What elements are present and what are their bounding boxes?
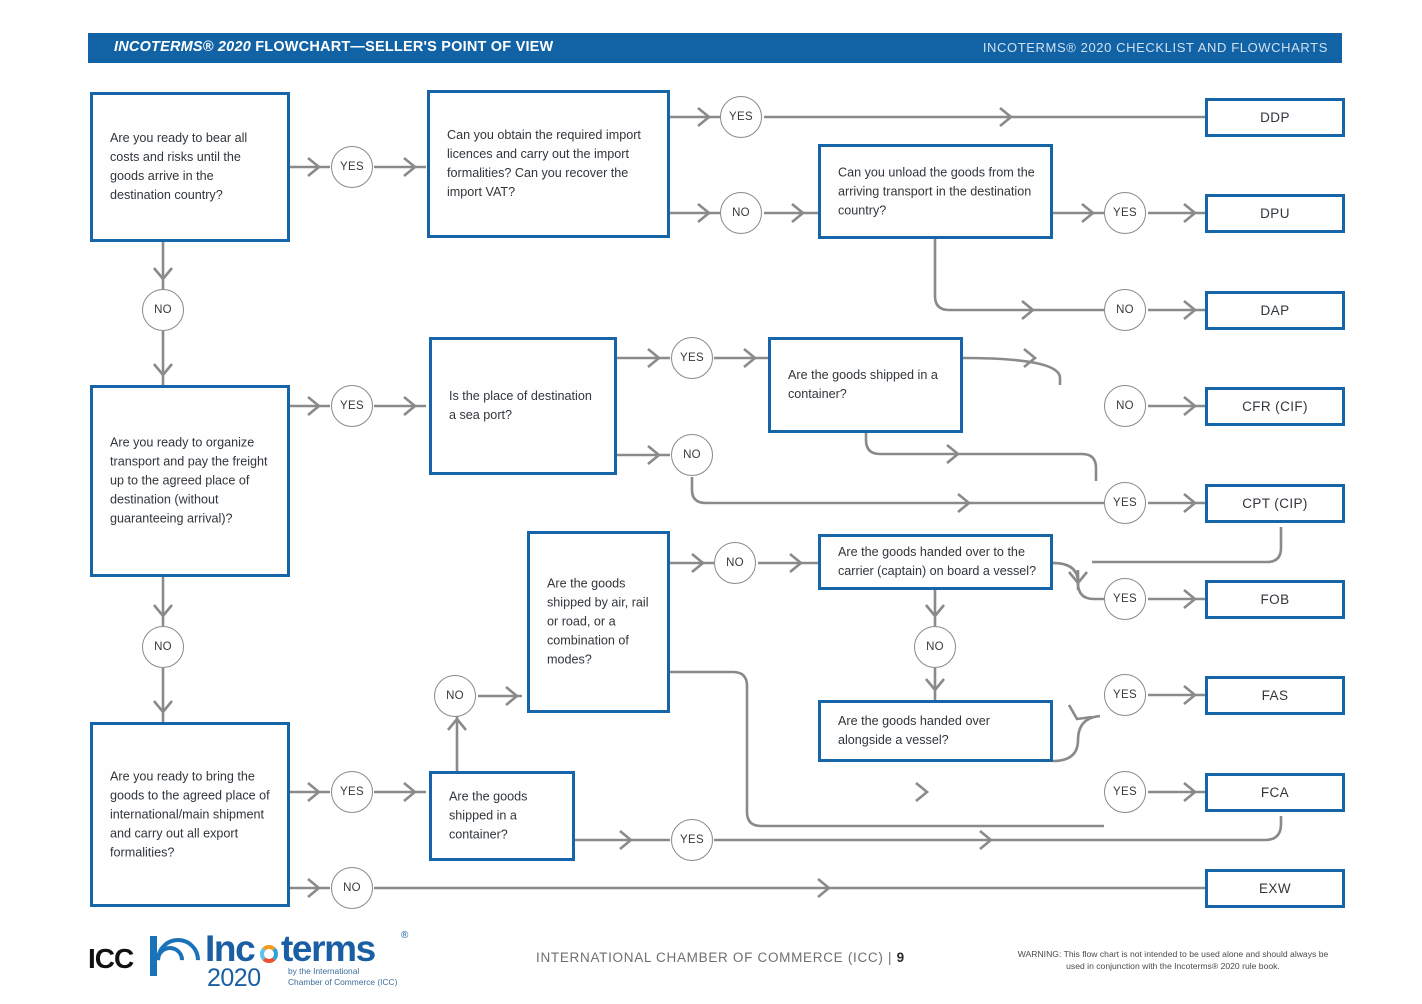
decision-q2-no[interactable]: NO <box>720 192 762 234</box>
decision-q8-no[interactable]: NO <box>914 626 956 668</box>
node-q6[interactable]: Are the goods shipped in a container? <box>768 337 963 433</box>
term-ddp[interactable]: DDP <box>1205 98 1345 137</box>
decision-q5-yes[interactable]: YES <box>671 337 713 379</box>
decision-q10-yes[interactable]: YES <box>331 771 373 813</box>
term-fas[interactable]: FAS <box>1205 676 1345 715</box>
term-cpt-cip[interactable]: CPT (CIP) <box>1205 484 1345 523</box>
node-q4-text: Are you ready to organize transport and … <box>110 434 275 529</box>
node-q2[interactable]: Can you obtain the required import licen… <box>427 90 670 238</box>
decision-q10-no[interactable]: NO <box>331 867 373 909</box>
node-q5-text: Is the place of destination a sea port? <box>449 387 602 425</box>
node-q11[interactable]: Are the goods shipped in a container? <box>429 771 575 861</box>
decision-fas-yes[interactable]: YES <box>1104 674 1146 716</box>
term-fca[interactable]: FCA <box>1205 773 1345 812</box>
decision-q7-no[interactable]: NO <box>714 542 756 584</box>
node-q3[interactable]: Can you unload the goods from the arrivi… <box>818 144 1053 239</box>
node-q1[interactable]: Are you ready to bear all costs and risk… <box>90 92 290 242</box>
decision-q11-yes[interactable]: YES <box>671 819 713 861</box>
decision-q3-yes[interactable]: YES <box>1104 192 1146 234</box>
node-q10[interactable]: Are you ready to bring the goods to the … <box>90 722 290 907</box>
term-dap[interactable]: DAP <box>1205 291 1345 330</box>
node-q9[interactable]: Are the goods handed over alongside a ve… <box>818 700 1053 762</box>
node-q10-text: Are you ready to bring the goods to the … <box>110 767 275 862</box>
decision-q6-no[interactable]: NO <box>1104 385 1146 427</box>
decision-cpt-yes[interactable]: YES <box>1104 482 1146 524</box>
decision-fca-yes[interactable]: YES <box>1104 771 1146 813</box>
node-q8-text: Are the goods handed over to the carrier… <box>838 543 1038 581</box>
decision-q5-no[interactable]: NO <box>671 434 713 476</box>
node-q11-text: Are the goods shipped in a container? <box>449 788 560 845</box>
decision-q2-yes[interactable]: YES <box>720 96 762 138</box>
term-fob[interactable]: FOB <box>1205 580 1345 619</box>
term-dpu[interactable]: DPU <box>1205 194 1345 233</box>
decision-q1-no[interactable]: NO <box>142 289 184 331</box>
node-q3-text: Can you unload the goods from the arrivi… <box>838 163 1038 220</box>
node-q9-text: Are the goods handed over alongside a ve… <box>838 712 1038 750</box>
node-q7[interactable]: Are the goods shipped by air, rail or ro… <box>527 531 670 713</box>
decision-q4-no[interactable]: NO <box>142 626 184 668</box>
decision-q11-no[interactable]: NO <box>434 675 476 717</box>
term-cfr-cif[interactable]: CFR (CIF) <box>1205 387 1345 426</box>
node-q4[interactable]: Are you ready to organize transport and … <box>90 385 290 577</box>
decision-q3-no[interactable]: NO <box>1104 289 1146 331</box>
flowchart-page: INCOTERMS® 2020 FLOWCHART—SELLER'S POINT… <box>0 0 1422 1004</box>
node-q6-text: Are the goods shipped in a container? <box>788 366 948 404</box>
node-q8[interactable]: Are the goods handed over to the carrier… <box>818 534 1053 590</box>
term-exw[interactable]: EXW <box>1205 869 1345 908</box>
node-q2-text: Can you obtain the required import licen… <box>447 126 655 202</box>
decision-q1-yes[interactable]: YES <box>331 146 373 188</box>
decision-q4-yes[interactable]: YES <box>331 385 373 427</box>
node-q7-text: Are the goods shipped by air, rail or ro… <box>547 575 655 670</box>
decision-fob-yes[interactable]: YES <box>1104 578 1146 620</box>
node-q5[interactable]: Is the place of destination a sea port? <box>429 337 617 475</box>
node-q1-text: Are you ready to bear all costs and risk… <box>110 129 275 205</box>
